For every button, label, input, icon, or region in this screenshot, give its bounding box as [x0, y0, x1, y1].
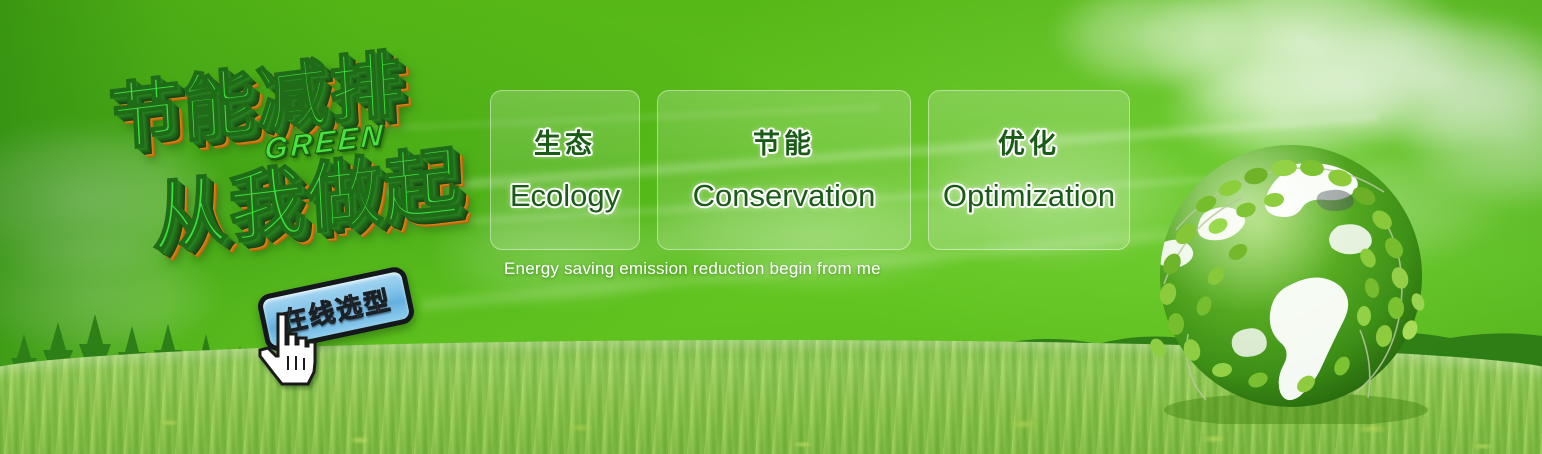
feature-card-optimization[interactable]: 优化 Optimization [928, 90, 1130, 250]
online-selection-button[interactable]: 在线选型 [256, 265, 417, 353]
tagline: Energy saving emission reduction begin f… [504, 259, 881, 279]
feature-card-optimization-cn: 优化 [998, 122, 1060, 161]
eco-promo-banner: 节能减排 GREEN 从我做起 在线选型 生态 Ecology 节能 Conse… [0, 0, 1542, 454]
online-selection-label: 在线选型 [277, 279, 394, 338]
feature-card-conservation-cn: 节能 [753, 122, 815, 161]
feature-card-ecology-en: Ecology [510, 178, 620, 214]
feature-card-conservation[interactable]: 节能 Conservation [657, 90, 911, 250]
feature-card-ecology-cn: 生态 [534, 122, 596, 161]
leafy-earth-globe-icon [1146, 134, 1436, 424]
feature-card-conservation-en: Conservation [693, 178, 876, 214]
feature-cards: 生态 Ecology 节能 Conservation 优化 Optimizati… [490, 90, 1130, 250]
headline-3d-logo: 节能减排 GREEN 从我做起 [96, 34, 496, 264]
feature-card-ecology[interactable]: 生态 Ecology [490, 90, 640, 250]
feature-card-optimization-en: Optimization [943, 178, 1115, 214]
online-selection-cta: 在线选型 [252, 272, 422, 352]
